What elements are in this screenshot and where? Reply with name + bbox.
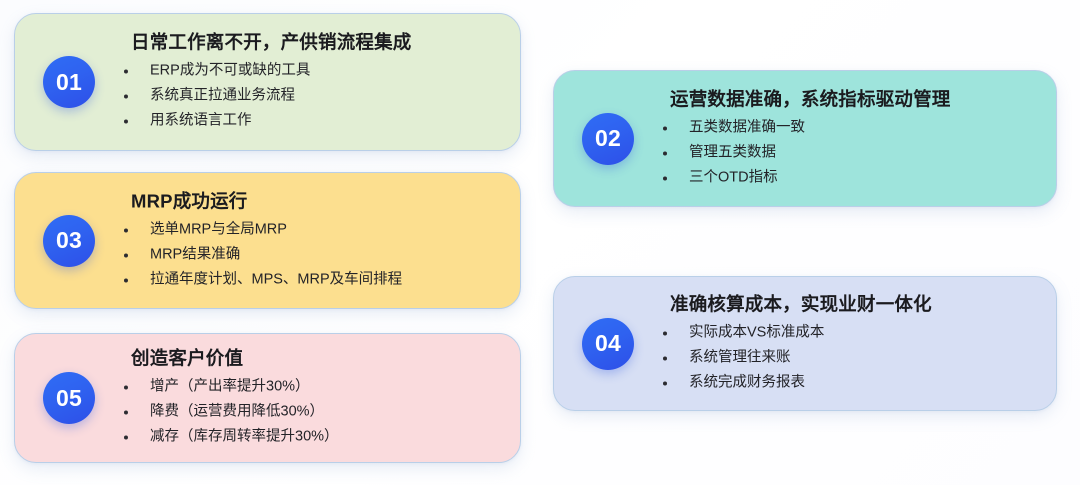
list-item: 五类数据准确一致 (658, 115, 1042, 140)
list-item: 实际成本VS标准成本 (658, 320, 1042, 345)
bullet-dot-icon (663, 126, 667, 130)
card-02-title: 运营数据准确，系统指标驱动管理 (670, 87, 1042, 110)
card-04-title: 准确核算成本，实现业财一体化 (670, 292, 1042, 315)
card-05-bullet-list: 增产（产出率提升30%） 降费（运营费用降低30%） 减存（库存周转率提升30%… (119, 375, 506, 450)
bullet-dot-icon (124, 253, 128, 257)
list-item-label: 降费（运营费用降低30%） (150, 404, 324, 420)
list-item: 减存（库存周转率提升30%） (119, 425, 506, 450)
card-01-content: 日常工作离不开，产供销流程集成 ERP成为不可或缺的工具 系统真正拉通业务流程 … (119, 31, 506, 134)
list-item-label: 选单MRP与全局MRP (150, 221, 287, 237)
list-item: 降费（运营费用降低30%） (119, 400, 506, 425)
card-01-title: 日常工作离不开，产供销流程集成 (131, 31, 506, 54)
list-item: 系统真正拉通业务流程 (119, 84, 506, 109)
infographic-canvas: 01 日常工作离不开，产供销流程集成 ERP成为不可或缺的工具 系统真正拉通业务… (0, 0, 1080, 485)
bullet-dot-icon (663, 151, 667, 155)
bullet-dot-icon (124, 411, 128, 415)
list-item: 用系统语言工作 (119, 109, 506, 134)
list-item-label: 三个OTD指标 (689, 169, 778, 185)
list-item-label: ERP成为不可或缺的工具 (150, 63, 310, 79)
bullet-dot-icon (663, 176, 667, 180)
bullet-dot-icon (124, 70, 128, 74)
card-03-bullet-list: 选单MRP与全局MRP MRP结果准确 拉通年度计划、MPS、MRP及车间排程 (119, 217, 506, 292)
card-05[interactable]: 05 创造客户价值 增产（产出率提升30%） 降费（运营费用降低30%） 减存（… (14, 333, 521, 463)
card-04-content: 准确核算成本，实现业财一体化 实际成本VS标准成本 系统管理往来账 系统完成财务… (658, 292, 1042, 395)
list-item-label: 实际成本VS标准成本 (689, 324, 824, 340)
list-item: 系统完成财务报表 (658, 370, 1042, 395)
list-item-label: 减存（库存周转率提升30%） (150, 429, 339, 445)
card-05-content: 创造客户价值 增产（产出率提升30%） 降费（运营费用降低30%） 减存（库存周… (119, 347, 506, 450)
card-01-number-badge: 01 (43, 56, 95, 108)
list-item-label: 系统真正拉通业务流程 (150, 88, 295, 104)
bullet-dot-icon (663, 331, 667, 335)
bullet-dot-icon (124, 436, 128, 440)
card-02[interactable]: 02 运营数据准确，系统指标驱动管理 五类数据准确一致 管理五类数据 三个OTD… (553, 70, 1057, 207)
bullet-dot-icon (663, 356, 667, 360)
list-item-label: 系统完成财务报表 (689, 374, 805, 390)
list-item-label: 拉通年度计划、MPS、MRP及车间排程 (150, 271, 402, 287)
card-05-title: 创造客户价值 (131, 347, 506, 370)
card-02-content: 运营数据准确，系统指标驱动管理 五类数据准确一致 管理五类数据 三个OTD指标 (658, 87, 1042, 190)
card-01-bullet-list: ERP成为不可或缺的工具 系统真正拉通业务流程 用系统语言工作 (119, 59, 506, 134)
card-03-title: MRP成功运行 (131, 189, 506, 212)
card-02-number-badge: 02 (582, 113, 634, 165)
bullet-dot-icon (124, 228, 128, 232)
list-item-label: 管理五类数据 (689, 144, 776, 160)
list-item: 管理五类数据 (658, 140, 1042, 165)
bullet-dot-icon (663, 381, 667, 385)
bullet-dot-icon (124, 278, 128, 282)
list-item: 系统管理往来账 (658, 345, 1042, 370)
card-03-content: MRP成功运行 选单MRP与全局MRP MRP结果准确 拉通年度计划、MPS、M… (119, 189, 506, 292)
card-02-bullet-list: 五类数据准确一致 管理五类数据 三个OTD指标 (658, 115, 1042, 190)
list-item: 增产（产出率提升30%） (119, 375, 506, 400)
bullet-dot-icon (124, 120, 128, 124)
list-item: 拉通年度计划、MPS、MRP及车间排程 (119, 267, 506, 292)
card-04[interactable]: 04 准确核算成本，实现业财一体化 实际成本VS标准成本 系统管理往来账 系统完… (553, 276, 1057, 411)
list-item-label: 五类数据准确一致 (689, 119, 805, 135)
list-item: MRP结果准确 (119, 242, 506, 267)
list-item-label: MRP结果准确 (150, 246, 240, 262)
list-item: 选单MRP与全局MRP (119, 217, 506, 242)
card-04-number-badge: 04 (582, 318, 634, 370)
bullet-dot-icon (124, 95, 128, 99)
card-04-bullet-list: 实际成本VS标准成本 系统管理往来账 系统完成财务报表 (658, 320, 1042, 395)
bullet-dot-icon (124, 386, 128, 390)
card-05-number-badge: 05 (43, 372, 95, 424)
card-01[interactable]: 01 日常工作离不开，产供销流程集成 ERP成为不可或缺的工具 系统真正拉通业务… (14, 13, 521, 151)
card-03[interactable]: 03 MRP成功运行 选单MRP与全局MRP MRP结果准确 拉通年度计划、MP… (14, 172, 521, 309)
list-item-label: 系统管理往来账 (689, 349, 791, 365)
list-item: 三个OTD指标 (658, 165, 1042, 190)
list-item-label: 增产（产出率提升30%） (150, 379, 310, 395)
list-item-label: 用系统语言工作 (150, 113, 252, 129)
list-item: ERP成为不可或缺的工具 (119, 59, 506, 84)
card-03-number-badge: 03 (43, 215, 95, 267)
